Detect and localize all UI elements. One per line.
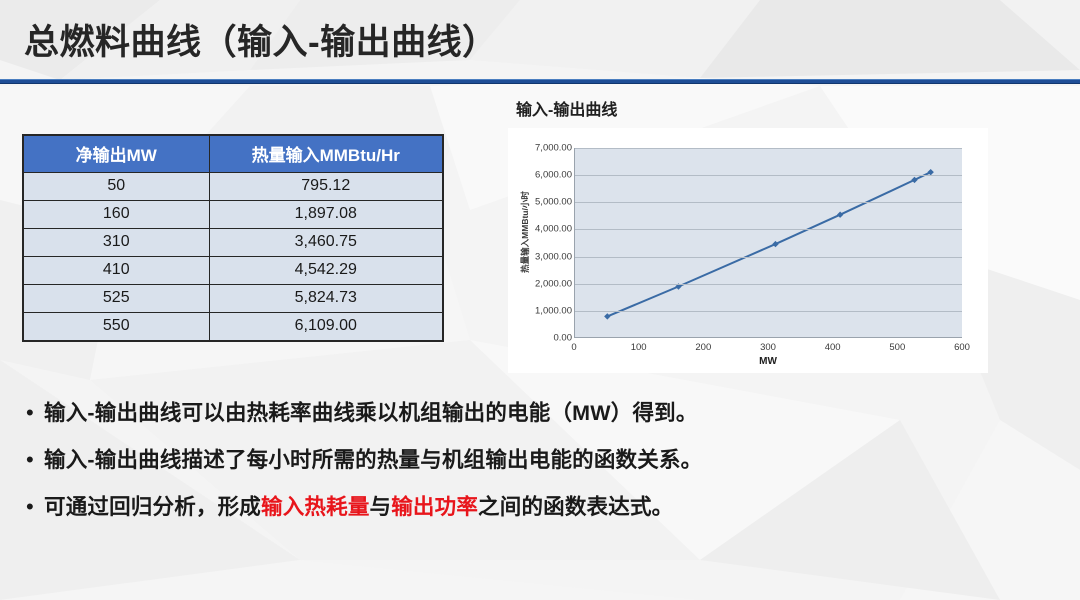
cell-net-output: 525	[23, 285, 209, 313]
chart-gridline	[575, 311, 962, 312]
chart-gridline	[575, 257, 962, 258]
table-row: 310 3,460.75	[23, 229, 443, 257]
cell-net-output: 50	[23, 173, 209, 201]
page-title: 总燃料曲线（输入-输出曲线）	[24, 14, 498, 65]
cell-net-output: 160	[23, 201, 209, 229]
cell-heat-input: 1,897.08	[209, 201, 443, 229]
table-header-row: 净输出MW 热量输入MMBtu/Hr	[23, 135, 443, 173]
bullet-dot-icon: •	[22, 492, 44, 522]
table-row: 550 6,109.00	[23, 313, 443, 342]
input-output-chart: 输入-输出曲线 热量输入MMBtu/小时 0.001,000.002,000.0…	[508, 128, 988, 373]
bullet-item: •输入-输出曲线可以由热耗率曲线乘以机组输出的电能（MW）得到。	[22, 398, 1052, 428]
table-body: 50 795.12 160 1,897.08 310 3,460.75 410 …	[23, 173, 443, 342]
cell-heat-input: 6,109.00	[209, 313, 443, 342]
chart-gridline	[575, 284, 962, 285]
fuel-curve-table: 净输出MW 热量输入MMBtu/Hr 50 795.12 160 1,897.0…	[22, 134, 444, 342]
title-accent-rule	[0, 79, 1080, 84]
chart-x-tick: 0	[554, 342, 594, 353]
cell-heat-input: 5,824.73	[209, 285, 443, 313]
chart-gridline	[575, 148, 962, 149]
fuel-curve-table-container: 净输出MW 热量输入MMBtu/Hr 50 795.12 160 1,897.0…	[22, 134, 442, 342]
bullet-plain-text: 之间的函数表达式。	[478, 495, 673, 519]
chart-series-svg	[575, 148, 963, 338]
bullet-highlight-text: 输入热耗量	[261, 495, 370, 519]
bullet-item: •可通过回归分析，形成输入热耗量与输出功率之间的函数表达式。	[22, 492, 1052, 522]
bullet-plain-text: 输入-输出曲线可以由热耗率曲线乘以机组输出的电能（MW）得到。	[44, 401, 698, 425]
chart-y-tick: 6,000.00	[510, 170, 572, 181]
table-header-net-output: 净输出MW	[23, 135, 209, 173]
slide-header: 总燃料曲线（输入-输出曲线）	[0, 0, 1080, 86]
chart-y-axis-ticks: 0.001,000.002,000.003,000.004,000.005,00…	[508, 128, 572, 373]
bullet-plain-text: 可通过回归分析，形成	[44, 495, 261, 519]
chart-y-tick: 7,000.00	[510, 143, 572, 154]
bullet-plain-text: 输入-输出曲线描述了每小时所需的热量与机组输出电能的函数关系。	[44, 448, 702, 472]
cell-heat-input: 795.12	[209, 173, 443, 201]
bullet-dot-icon: •	[22, 398, 44, 428]
chart-x-tick: 300	[748, 342, 788, 353]
cell-heat-input: 4,542.29	[209, 257, 443, 285]
cell-net-output: 410	[23, 257, 209, 285]
chart-y-tick: 1,000.00	[510, 305, 572, 316]
chart-data-point	[837, 212, 843, 218]
cell-net-output: 550	[23, 313, 209, 342]
chart-y-tick: 2,000.00	[510, 278, 572, 289]
chart-x-tick: 200	[683, 342, 723, 353]
chart-gridline	[575, 229, 962, 230]
table-header-heat-input: 热量输入MMBtu/Hr	[209, 135, 443, 173]
chart-y-tick: 5,000.00	[510, 197, 572, 208]
bullet-dot-icon: •	[22, 445, 44, 475]
chart-x-tick: 100	[619, 342, 659, 353]
table-row: 50 795.12	[23, 173, 443, 201]
chart-data-point	[911, 177, 917, 183]
slide: 总燃料曲线（输入-输出曲线） 净输出MW 热量输入MMBtu/Hr 50 795…	[0, 0, 1080, 600]
bullet-text: 输入-输出曲线可以由热耗率曲线乘以机组输出的电能（MW）得到。	[44, 398, 698, 428]
chart-y-tick: 3,000.00	[510, 251, 572, 262]
bullet-plain-text: 与	[370, 495, 392, 519]
table-row: 525 5,824.73	[23, 285, 443, 313]
chart-x-axis-label: MW	[574, 356, 962, 367]
table-row: 160 1,897.08	[23, 201, 443, 229]
bullet-highlight-text: 输出功率	[391, 495, 478, 519]
chart-title: 输入-输出曲线	[516, 96, 617, 120]
bullet-text: 输入-输出曲线描述了每小时所需的热量与机组输出电能的函数关系。	[44, 445, 702, 475]
cell-heat-input: 3,460.75	[209, 229, 443, 257]
chart-gridline	[575, 175, 962, 176]
chart-x-tick: 400	[813, 342, 853, 353]
bullet-list: •输入-输出曲线可以由热耗率曲线乘以机组输出的电能（MW）得到。•输入-输出曲线…	[22, 398, 1052, 539]
chart-x-tick: 600	[942, 342, 982, 353]
chart-data-point	[604, 313, 610, 319]
chart-x-tick: 500	[877, 342, 917, 353]
cell-net-output: 310	[23, 229, 209, 257]
chart-gridline	[575, 202, 962, 203]
bullet-text: 可通过回归分析，形成输入热耗量与输出功率之间的函数表达式。	[44, 492, 673, 522]
table-row: 410 4,542.29	[23, 257, 443, 285]
chart-line-series	[607, 172, 930, 316]
chart-y-tick: 4,000.00	[510, 224, 572, 235]
bullet-item: •输入-输出曲线描述了每小时所需的热量与机组输出电能的函数关系。	[22, 445, 1052, 475]
chart-plot-area	[574, 148, 962, 338]
chart-data-point	[772, 241, 778, 247]
